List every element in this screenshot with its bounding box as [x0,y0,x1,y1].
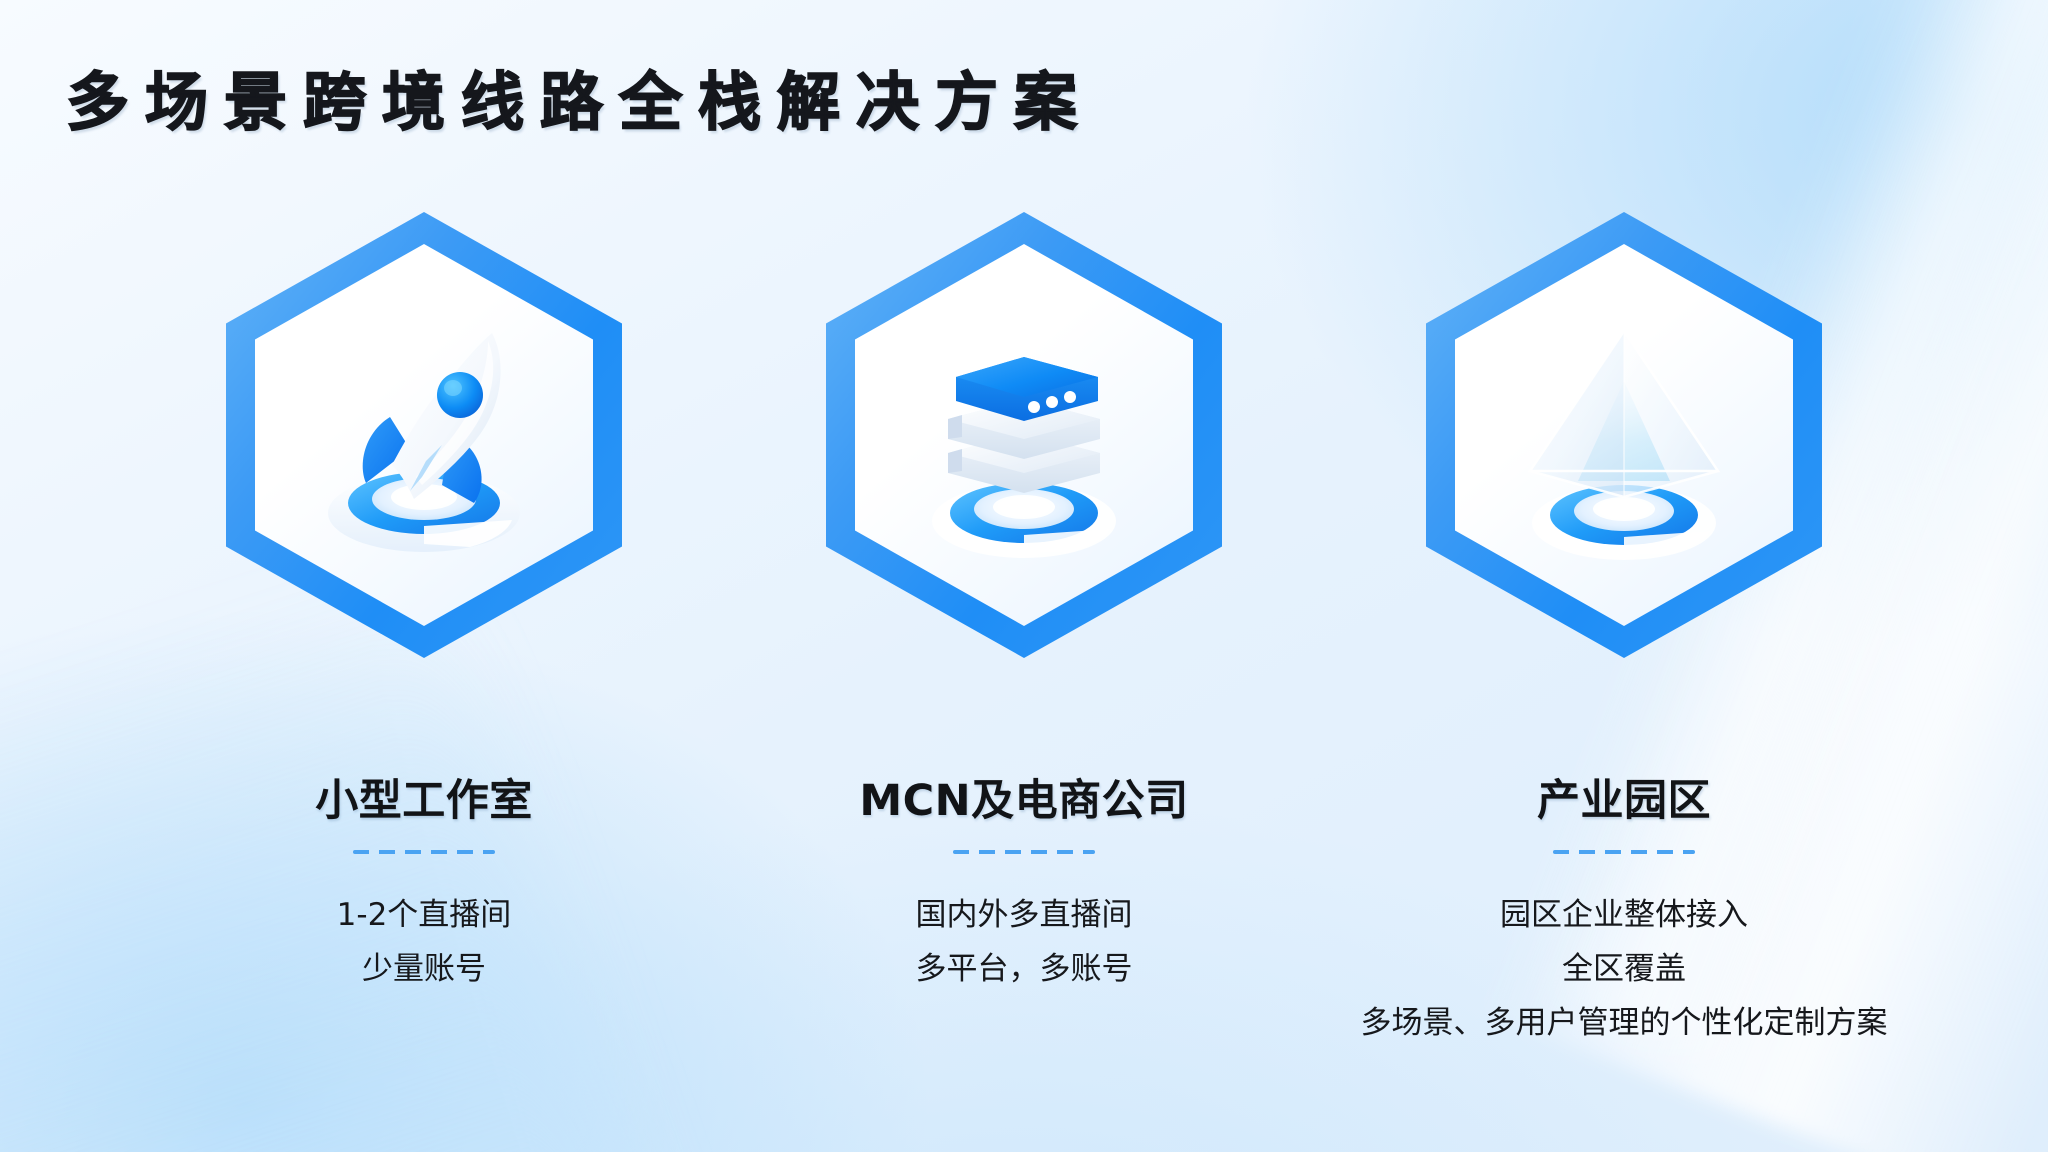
scenario-card[interactable]: MCN及电商公司 国内外多直播间 多平台，多账号 [724,212,1324,996]
page-title: 多场景跨境线路全栈解决方案 [66,52,1093,143]
scenario-card[interactable]: 产业园区 园区企业整体接入 全区覆盖 多场景、多用户管理的个性化定制方案 [1324,212,1924,1050]
card-description: 园区企业整体接入 全区覆盖 多场景、多用户管理的个性化定制方案 [1361,888,1888,1050]
card-title: MCN及电商公司 [859,766,1188,828]
card-line: 少量账号 [337,942,512,996]
scenario-card[interactable]: 小型工作室 1-2个直播间 少量账号 [124,212,724,996]
hexagon-badge [226,212,622,658]
card-title: 小型工作室 [315,766,533,828]
card-divider [953,850,1095,854]
card-line: 园区企业整体接入 [1361,888,1888,942]
hexagon-badge [826,212,1222,658]
scenario-cards-row: 小型工作室 1-2个直播间 少量账号 [0,212,2048,1050]
card-title: 产业园区 [1537,766,1711,828]
poster-canvas: 多场景跨境线路全栈解决方案 [0,0,2048,1152]
card-divider [1553,850,1695,854]
hexagon-badge [1426,212,1822,658]
card-line: 多平台，多账号 [916,942,1133,996]
card-description: 1-2个直播间 少量账号 [337,888,512,996]
card-line: 多场景、多用户管理的个性化定制方案 [1361,996,1888,1050]
card-line: 全区覆盖 [1361,942,1888,996]
card-line: 1-2个直播间 [337,888,512,942]
card-description: 国内外多直播间 多平台，多账号 [916,888,1133,996]
card-divider [353,850,495,854]
card-line: 国内外多直播间 [916,888,1133,942]
